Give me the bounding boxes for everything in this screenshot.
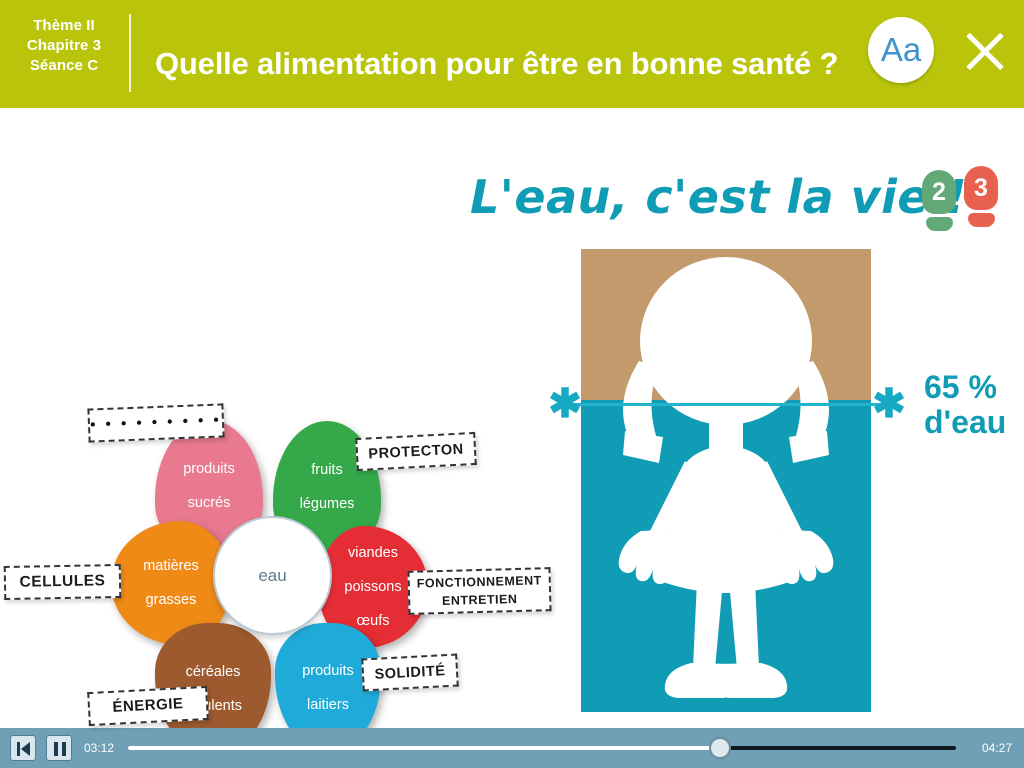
close-icon[interactable]	[957, 23, 1013, 79]
food-flower-diagram: produits sucrés fruits légumes matières …	[0, 278, 500, 638]
font-size-button[interactable]: Aa	[868, 17, 934, 83]
petal-label-line2: légumes	[296, 496, 359, 513]
tag-fonctionnement-entretien: FONCTIONNEMENT ENTRETIEN	[407, 567, 551, 615]
step-footprints: 2 3	[922, 166, 1014, 228]
breadcrumb-chapter: Chapitre 3	[0, 36, 128, 56]
slide-header: Thème II Chapitre 3 Séance C Quelle alim…	[0, 0, 1024, 108]
water-level-line	[568, 403, 886, 406]
tag-energie: ÉNERGIE	[87, 686, 209, 726]
girl-silhouette-icon	[581, 249, 871, 712]
breadcrumb-theme: Thème II	[0, 16, 128, 36]
petal-label-line1: fruits	[296, 462, 359, 479]
footprint-step-2-icon: 2	[922, 170, 956, 231]
footprint-heel	[926, 217, 953, 231]
tag-protection: PROTECTON	[355, 432, 477, 471]
petal-label-line2: poissons	[340, 579, 405, 596]
flower-center-eau: eau	[213, 516, 332, 635]
footprint-heel	[968, 213, 995, 227]
body-water-illustration	[581, 249, 871, 712]
slide-content: produits sucrés fruits légumes matières …	[0, 108, 1024, 728]
petal-label-line1: viandes	[340, 545, 405, 562]
progress-fill	[128, 746, 720, 750]
petal-label-line2: laitiers	[298, 697, 358, 714]
asterisk-right-icon: ✱	[872, 387, 906, 421]
progress-track[interactable]	[128, 746, 956, 750]
tag-blank-answer[interactable]: • • • • • • • • •	[87, 403, 224, 442]
petal-label-line1: matières	[139, 558, 203, 575]
chapter-breadcrumb: Thème II Chapitre 3 Séance C	[0, 16, 128, 76]
water-percentage: 65 % d'eau	[924, 370, 1006, 440]
current-time: 03:12	[84, 741, 114, 755]
tag-line2: ENTRETIEN	[442, 590, 518, 610]
tag-line1: FONCTIONNEMENT	[417, 571, 542, 592]
pause-icon[interactable]	[46, 735, 72, 761]
skip-previous-icon[interactable]	[10, 735, 36, 761]
petal-label-line1: céréales	[180, 664, 246, 681]
footprint-number: 3	[964, 166, 998, 210]
water-percentage-value: 65 %	[924, 370, 1006, 405]
video-player-bar: 03:12 04:27	[0, 728, 1024, 768]
slide-root: Thème II Chapitre 3 Séance C Quelle alim…	[0, 0, 1024, 768]
petal-label-line1: produits	[298, 663, 358, 680]
water-percentage-unit: d'eau	[924, 405, 1006, 440]
water-heading: L'eau, c'est la vie !	[470, 170, 967, 224]
petal-label-line2: sucrés	[179, 495, 239, 512]
total-time: 04:27	[982, 741, 1012, 755]
header-divider	[129, 14, 131, 92]
progress-handle[interactable]	[709, 737, 731, 759]
asterisk-left-icon: ✱	[548, 387, 582, 421]
breadcrumb-seance: Séance C	[0, 56, 128, 76]
page-title: Quelle alimentation pour être en bonne s…	[155, 46, 838, 82]
tag-blank-dots: • • • • • • • • •	[90, 411, 222, 434]
footprint-step-3-icon: 3	[964, 166, 998, 227]
footprint-number: 2	[922, 170, 956, 214]
tag-cellules: CELLULES	[4, 564, 122, 600]
petal-label-line2: grasses	[139, 592, 203, 609]
petal-label-line1: produits	[179, 461, 239, 478]
tag-solidite: SOLIDITÉ	[361, 654, 459, 692]
